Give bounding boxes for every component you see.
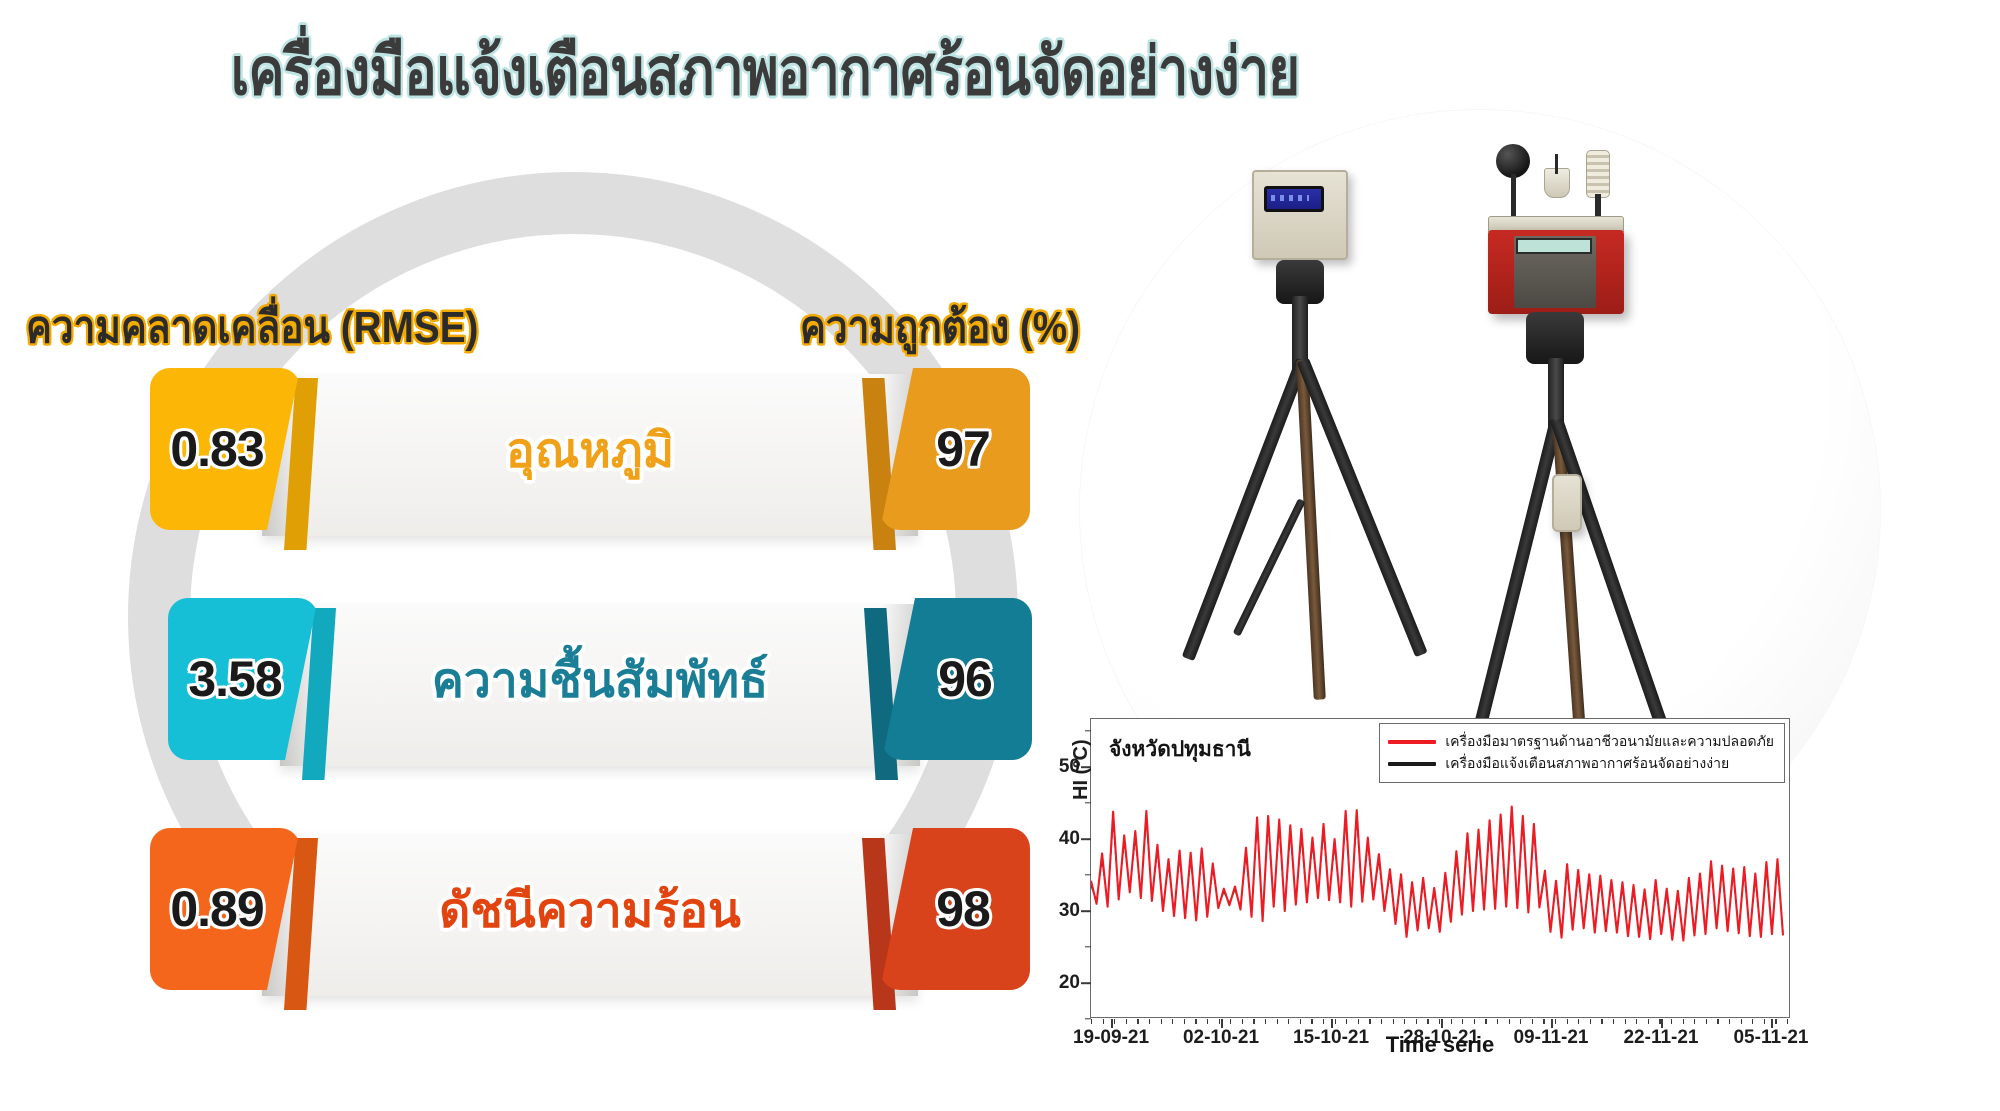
x-tick-mark xyxy=(1331,1019,1333,1028)
tripod-head xyxy=(1526,312,1584,364)
metric-row-temperature: อุณหภูมิ 0.83 97 xyxy=(150,368,1030,536)
x-tick-minor xyxy=(1323,1019,1324,1024)
handheld-logger xyxy=(1552,474,1582,532)
x-tick-minor xyxy=(1393,1019,1394,1024)
device-enclosure-beige xyxy=(1252,170,1348,260)
wet-bulb-stem xyxy=(1555,154,1558,174)
x-tick-minor xyxy=(1288,1019,1289,1024)
x-tick-minor xyxy=(1775,1019,1776,1024)
x-tick-minor xyxy=(1219,1019,1220,1024)
x-tick-minor xyxy=(1509,1019,1510,1024)
x-tick-minor xyxy=(1439,1019,1440,1024)
x-tick-minor xyxy=(1532,1019,1533,1024)
accuracy-cap: 97 xyxy=(880,368,1030,530)
x-tick-minor xyxy=(1659,1019,1660,1024)
x-tick-minor xyxy=(1346,1019,1347,1024)
x-tick-minor xyxy=(1625,1019,1626,1024)
wbgt-standard-monitor-tripod xyxy=(1460,144,1740,814)
x-tick-minor xyxy=(1311,1019,1312,1024)
accuracy-value: 98 xyxy=(936,880,990,938)
x-tick-minor xyxy=(1137,1019,1138,1024)
black-globe-sensor xyxy=(1496,144,1530,178)
x-tick-minor xyxy=(1474,1019,1475,1024)
x-tick-minor xyxy=(1497,1019,1498,1024)
x-tick-minor xyxy=(1358,1019,1359,1024)
x-tick-minor xyxy=(1717,1019,1718,1024)
x-tick-minor xyxy=(1416,1019,1417,1024)
x-tick-mark xyxy=(1661,1019,1663,1028)
accuracy-value: 96 xyxy=(938,650,992,708)
x-tick-mark xyxy=(1551,1019,1553,1028)
x-tick-minor xyxy=(1242,1019,1243,1024)
x-tick-mark xyxy=(1441,1019,1443,1028)
x-tick-mark xyxy=(1771,1019,1773,1028)
x-tick-minor xyxy=(1114,1019,1115,1024)
x-tick-minor xyxy=(1207,1019,1208,1024)
page-title: เครื่องมือแจ้งเตือนสภาพอากาศร้อนจัดอย่าง… xyxy=(138,34,1393,110)
chart-series-line xyxy=(1091,812,1783,937)
rmse-cap: 3.58 xyxy=(168,598,318,760)
x-tick-minor xyxy=(1091,1019,1092,1024)
y-tick-minor xyxy=(1085,946,1091,947)
lcd-display-blue xyxy=(1264,186,1324,212)
x-tick-minor xyxy=(1555,1019,1556,1024)
y-tick-minor xyxy=(1085,802,1091,803)
x-tick-minor xyxy=(1683,1019,1684,1024)
x-tick-minor xyxy=(1462,1019,1463,1024)
y-tick-mark xyxy=(1081,982,1091,984)
rmse-value: 3.58 xyxy=(188,650,281,708)
x-tick-minor xyxy=(1741,1019,1742,1024)
x-tick-minor xyxy=(1369,1019,1370,1024)
monitor-enclosure-red xyxy=(1488,230,1624,314)
x-tick-minor xyxy=(1520,1019,1521,1024)
y-tick-mark xyxy=(1081,838,1091,840)
chart-plot-area xyxy=(1091,719,1791,1019)
x-tick-minor xyxy=(1427,1019,1428,1024)
x-tick-mark xyxy=(1111,1019,1113,1028)
x-tick-mark xyxy=(1221,1019,1223,1028)
x-tick-minor xyxy=(1543,1019,1544,1024)
x-tick-minor xyxy=(1103,1019,1104,1024)
metric-row-heat-index: ดัชนีความร้อน 0.89 98 xyxy=(150,828,1030,996)
x-tick-minor xyxy=(1648,1019,1649,1024)
simple-heat-warning-device-tripod xyxy=(1200,170,1460,810)
globe-sensor-stem xyxy=(1511,174,1516,218)
x-tick-minor xyxy=(1253,1019,1254,1024)
chart-x-axis-label: Time serie xyxy=(1090,1032,1790,1058)
rmse-value: 0.89 xyxy=(170,880,263,938)
x-tick-minor xyxy=(1184,1019,1185,1024)
x-tick-minor xyxy=(1300,1019,1301,1024)
x-tick-minor xyxy=(1613,1019,1614,1024)
y-tick-label: 40 xyxy=(1059,828,1080,850)
infographic-root: เครื่องมือแจ้งเตือนสภาพอากาศร้อนจัดอย่าง… xyxy=(0,0,2000,1111)
time-series-chart: จังหวัดปทุมธานี เครื่องมือมาตรฐานด้านอาช… xyxy=(1090,718,1790,1018)
x-tick-minor xyxy=(1149,1019,1150,1024)
x-tick-minor xyxy=(1230,1019,1231,1024)
x-tick-minor xyxy=(1590,1019,1591,1024)
x-tick-minor xyxy=(1485,1019,1486,1024)
x-tick-minor xyxy=(1567,1019,1568,1024)
chart-series-line xyxy=(1091,807,1783,941)
x-tick-minor xyxy=(1277,1019,1278,1024)
x-tick-minor xyxy=(1671,1019,1672,1024)
x-tick-minor xyxy=(1601,1019,1602,1024)
x-tick-minor xyxy=(1787,1019,1788,1024)
accuracy-cap: 98 xyxy=(880,828,1030,990)
monitor-lcd-display xyxy=(1516,238,1592,254)
x-tick-minor xyxy=(1578,1019,1579,1024)
y-tick-label: 30 xyxy=(1059,900,1080,922)
rmse-cap: 0.89 xyxy=(150,828,300,990)
x-tick-minor xyxy=(1636,1019,1637,1024)
x-tick-minor xyxy=(1404,1019,1405,1024)
x-tick-minor xyxy=(1381,1019,1382,1024)
x-tick-minor xyxy=(1764,1019,1765,1024)
radiation-shield-sensor xyxy=(1586,150,1610,198)
x-tick-minor xyxy=(1706,1019,1707,1024)
x-tick-minor xyxy=(1265,1019,1266,1024)
x-tick-minor xyxy=(1752,1019,1753,1024)
accuracy-cap: 96 xyxy=(882,598,1032,760)
x-tick-minor xyxy=(1161,1019,1162,1024)
y-tick-minor xyxy=(1085,874,1091,875)
x-tick-minor xyxy=(1335,1019,1336,1024)
x-tick-minor xyxy=(1694,1019,1695,1024)
column-header-accuracy: ความถูกต้อง (%) xyxy=(800,292,1080,362)
tripod-leg-left xyxy=(1468,418,1563,751)
y-tick-minor xyxy=(1085,730,1091,731)
rmse-cap: 0.83 xyxy=(150,368,300,530)
accuracy-value: 97 xyxy=(936,420,990,478)
y-tick-mark xyxy=(1081,910,1091,912)
metric-row-relative-humidity: ความชื้นสัมพัทธ์ 3.58 96 xyxy=(168,598,1032,766)
x-tick-minor xyxy=(1729,1019,1730,1024)
x-tick-minor xyxy=(1195,1019,1196,1024)
y-tick-label: 20 xyxy=(1059,972,1080,994)
rmse-value: 0.83 xyxy=(170,420,263,478)
chart-y-axis-label: HI (ºC) xyxy=(1070,739,1093,800)
x-tick-minor xyxy=(1451,1019,1452,1024)
x-tick-minor xyxy=(1126,1019,1127,1024)
column-header-rmse: ความคลาดเคลื่อน (RMSE) xyxy=(26,292,478,362)
x-tick-minor xyxy=(1172,1019,1173,1024)
